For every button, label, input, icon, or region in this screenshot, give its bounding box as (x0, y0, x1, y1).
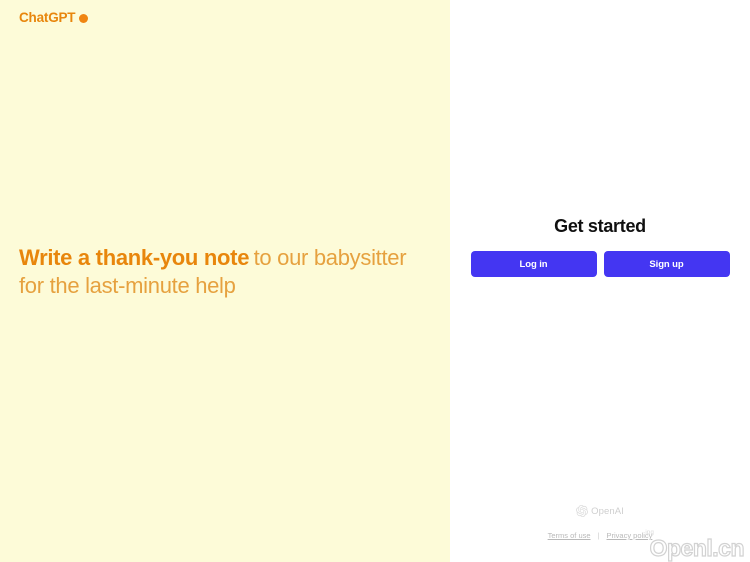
footer-links: Terms of use | Privacy policy (548, 531, 653, 540)
site-watermark: Openl.cn (650, 537, 744, 560)
footer-separator: | (598, 531, 600, 540)
auth-block: Get started Log in Sign up (450, 216, 750, 277)
left-promo-panel: ChatGPT Write a thank-you note to our ba… (0, 0, 450, 562)
page-title: Get started (554, 216, 646, 237)
chatgpt-brand[interactable]: ChatGPT (19, 11, 88, 25)
login-button[interactable]: Log in (471, 251, 597, 277)
orange-dot-icon (79, 14, 88, 23)
auth-button-group: Log in Sign up (471, 251, 730, 277)
terms-of-use-link[interactable]: Terms of use (548, 531, 591, 540)
right-auth-panel: Get started Log in Sign up OpenAI Terms … (450, 0, 750, 562)
openai-brand: OpenAI (576, 505, 624, 517)
landing-page: ChatGPT Write a thank-you note to our ba… (0, 0, 750, 562)
footer: OpenAI Terms of use | Privacy policy (450, 505, 750, 540)
signup-button[interactable]: Sign up (604, 251, 730, 277)
prompt-bold-text: Write a thank-you note (19, 245, 249, 270)
chatgpt-wordmark: ChatGPT (19, 11, 75, 25)
watermark-tag: jpg (645, 530, 654, 536)
openai-knot-icon (576, 505, 588, 517)
suggested-prompt: Write a thank-you note to our babysitter… (19, 244, 419, 300)
openai-wordmark: OpenAI (591, 506, 624, 517)
